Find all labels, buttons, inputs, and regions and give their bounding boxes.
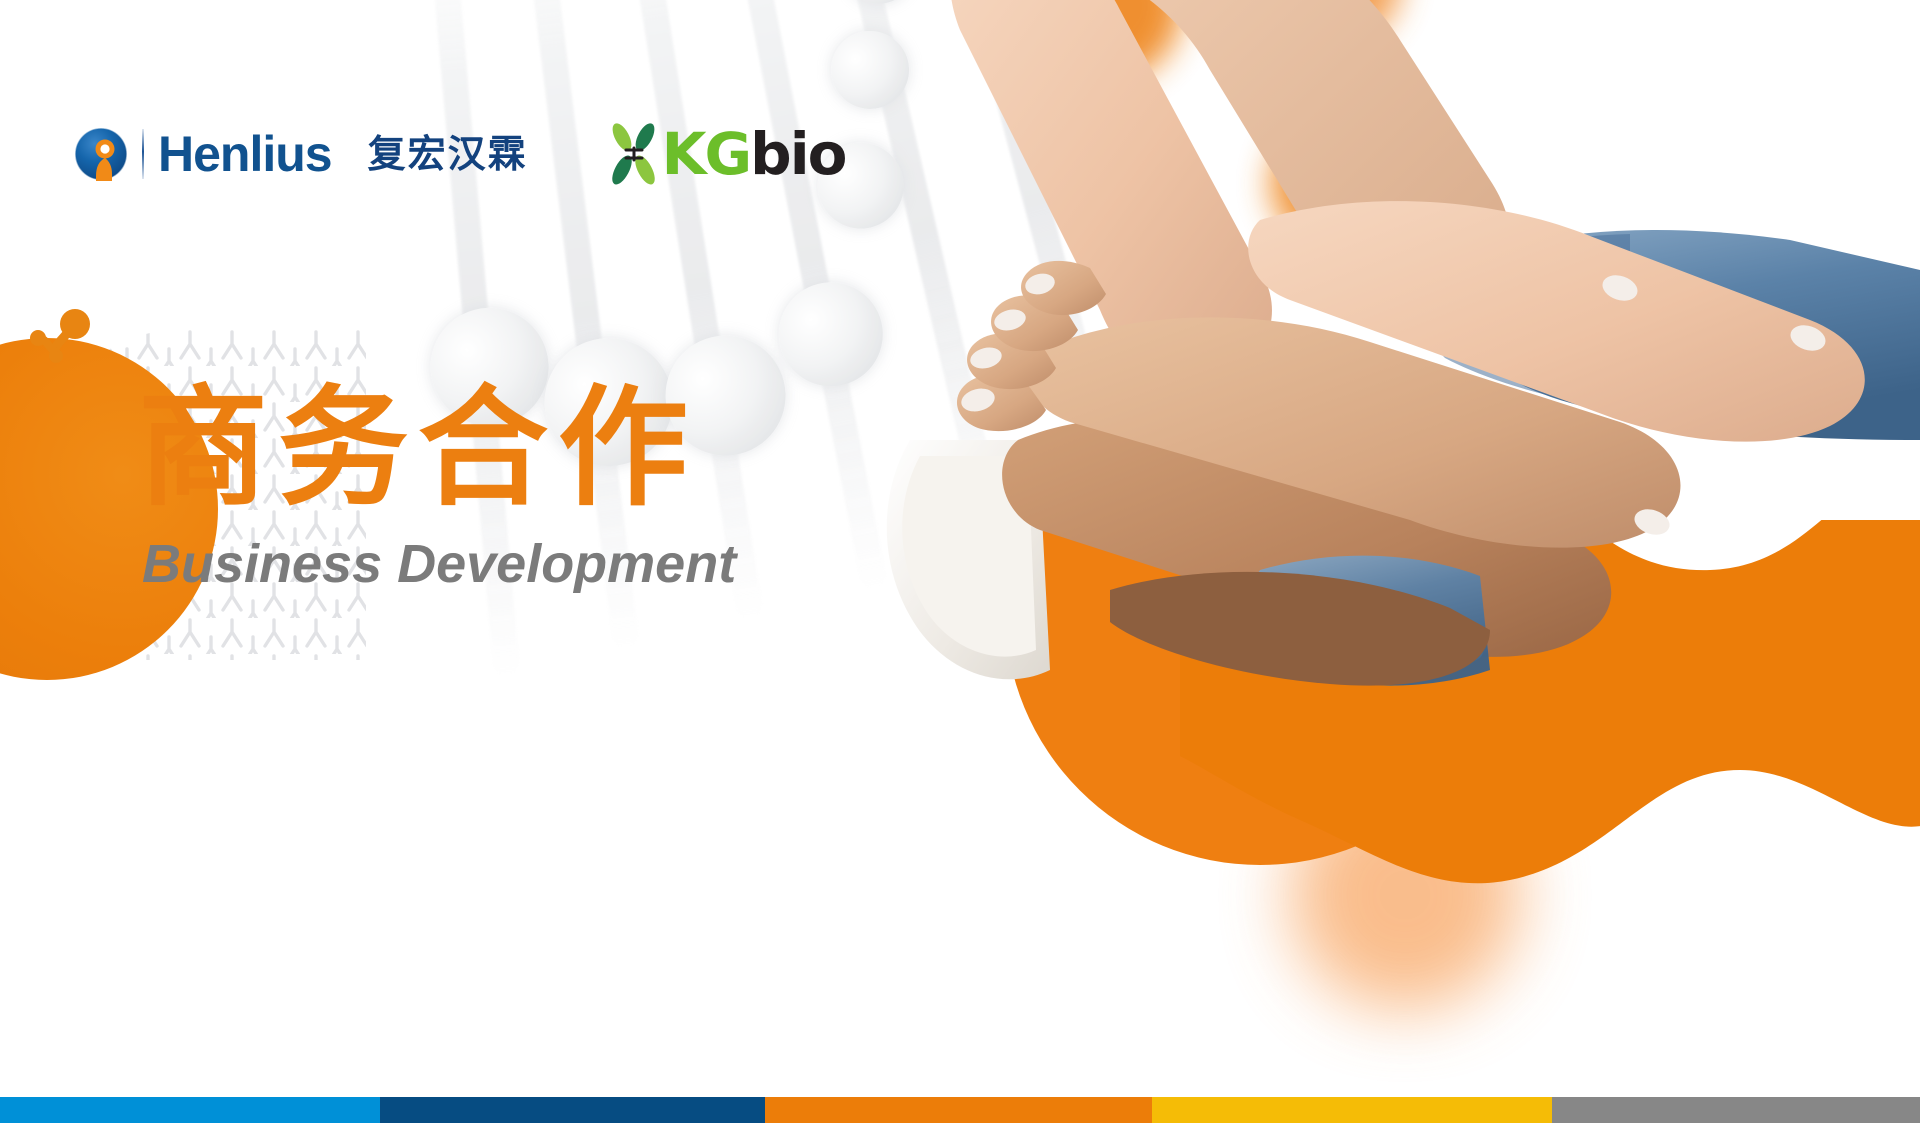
- slide-canvas: Henlius 复宏汉霖 KG bio 商务合作 Business Develo…: [0, 0, 1920, 1123]
- kgbio-logo[interactable]: KG bio: [608, 118, 846, 190]
- band-gray: [1552, 1097, 1920, 1123]
- henlius-wordmark: Henlius: [158, 129, 332, 179]
- henlius-logo-divider: [142, 129, 144, 179]
- page-subtitle-english: Business Development: [142, 537, 736, 591]
- page-title-chinese: 商务合作: [138, 372, 736, 525]
- kgbio-chromosome-mark: [608, 122, 660, 186]
- title-block: 商务合作 Business Development: [138, 372, 736, 591]
- molecule-icon: [28, 306, 98, 366]
- band-yellow: [1152, 1097, 1552, 1123]
- band-light-blue: [0, 1097, 380, 1123]
- hands-together-photo: [790, 0, 1920, 730]
- henlius-circle-mark: [74, 127, 128, 181]
- band-dark-blue: [380, 1097, 765, 1123]
- bottom-color-bar: [0, 1097, 1920, 1123]
- kgbio-wordmark-kg: KG: [662, 125, 751, 183]
- band-orange: [765, 1097, 1152, 1123]
- kgbio-wordmark-bio: bio: [750, 125, 845, 183]
- henlius-chinese-name: 复宏汉霖: [368, 135, 528, 173]
- henlius-logo[interactable]: Henlius 复宏汉霖: [74, 118, 528, 190]
- logo-row: Henlius 复宏汉霖 KG bio: [74, 118, 845, 190]
